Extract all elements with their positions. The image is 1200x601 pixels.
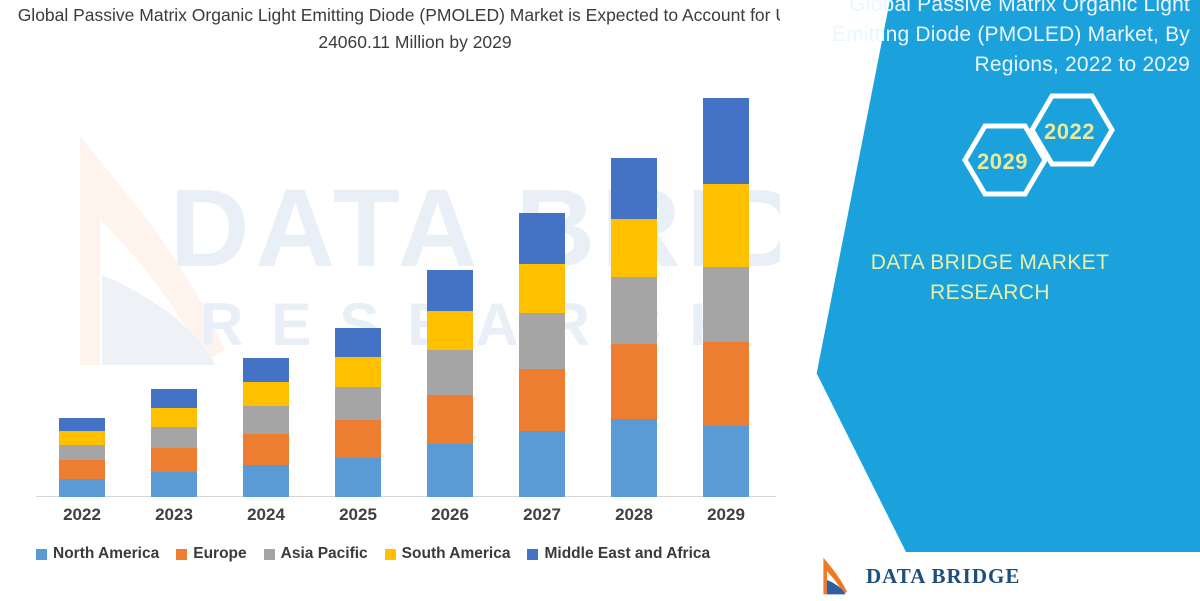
panel-title: Global Passive Matrix Organic Light Emit… xyxy=(800,0,1190,80)
bar-segment[interactable] xyxy=(427,350,473,395)
legend-label: Asia Pacific xyxy=(281,545,368,563)
legend-label: North America xyxy=(53,545,159,563)
bar-segment[interactable] xyxy=(59,460,105,478)
stacked-bar-2024[interactable] xyxy=(243,358,289,497)
bar-slot xyxy=(404,270,496,497)
bar-segment[interactable] xyxy=(519,431,565,497)
right-info-panel: Global Passive Matrix Organic Light Emit… xyxy=(780,0,1200,600)
hexagon-group: 2022 2029 xyxy=(780,88,1200,218)
bar-slot xyxy=(128,389,220,497)
bar-segment[interactable] xyxy=(335,458,381,497)
bar-segment[interactable] xyxy=(519,213,565,264)
chart-legend: North AmericaEuropeAsia PacificSouth Ame… xyxy=(36,542,796,566)
stacked-bar-2023[interactable] xyxy=(151,389,197,497)
bar-slot xyxy=(680,98,772,497)
bar-segment[interactable] xyxy=(519,264,565,313)
stacked-bar-2028[interactable] xyxy=(611,158,657,497)
brand-block: DATA BRIDGE MARKET RESEARCH xyxy=(780,248,1200,308)
x-label-2026: 2026 xyxy=(404,505,496,525)
bar-segment[interactable] xyxy=(151,408,197,426)
bar-segment[interactable] xyxy=(427,395,473,444)
chart-panel: Global Passive Matrix Organic Light Emit… xyxy=(0,0,840,600)
x-label-2024: 2024 xyxy=(220,505,312,525)
bar-segment[interactable] xyxy=(243,465,289,497)
x-label-2023: 2023 xyxy=(128,505,220,525)
legend-item[interactable]: Middle East and Africa xyxy=(527,545,710,563)
bar-segment[interactable] xyxy=(427,444,473,497)
bar-segment[interactable] xyxy=(703,98,749,184)
hexagon-2029-label: 2029 xyxy=(977,149,1028,175)
legend-label: Middle East and Africa xyxy=(544,545,710,563)
bar-segment[interactable] xyxy=(611,219,657,278)
bar-segment[interactable] xyxy=(427,270,473,310)
legend-item[interactable]: Asia Pacific xyxy=(264,545,368,563)
bar-segment[interactable] xyxy=(611,158,657,219)
hexagon-2022-label: 2022 xyxy=(1044,119,1095,145)
bar-segment[interactable] xyxy=(519,313,565,369)
stacked-bar-2026[interactable] xyxy=(427,270,473,497)
bar-segment[interactable] xyxy=(703,426,749,497)
bar-segment[interactable] xyxy=(519,369,565,431)
legend-swatch xyxy=(264,549,275,560)
x-label-2027: 2027 xyxy=(496,505,588,525)
bar-segment[interactable] xyxy=(335,387,381,420)
stacked-bar-2022[interactable] xyxy=(59,418,105,497)
legend-item[interactable]: Europe xyxy=(176,545,246,563)
bar-slot xyxy=(220,358,312,497)
bar-segment[interactable] xyxy=(427,311,473,350)
bar-segment[interactable] xyxy=(703,267,749,342)
legend-swatch xyxy=(385,549,396,560)
bar-segment[interactable] xyxy=(335,328,381,357)
bar-segment[interactable] xyxy=(151,389,197,409)
bar-segment[interactable] xyxy=(703,342,749,426)
bar-segment[interactable] xyxy=(59,445,105,460)
bar-segment[interactable] xyxy=(243,434,289,465)
legend-item[interactable]: North America xyxy=(36,545,159,563)
x-label-2029: 2029 xyxy=(680,505,772,525)
bar-segment[interactable] xyxy=(151,448,197,472)
bar-segment[interactable] xyxy=(59,418,105,432)
databridge-logo-icon xyxy=(810,556,856,596)
bar-slot xyxy=(36,418,128,497)
bar-segment[interactable] xyxy=(151,472,197,497)
bar-segment[interactable] xyxy=(243,358,289,382)
bar-segment[interactable] xyxy=(335,420,381,458)
bar-segment[interactable] xyxy=(243,406,289,434)
x-label-2025: 2025 xyxy=(312,505,404,525)
footer-logo-text: DATA BRIDGE xyxy=(866,564,1020,589)
stacked-bar-2029[interactable] xyxy=(703,98,749,497)
brand-line-1: DATA BRIDGE MARKET xyxy=(780,248,1200,278)
bar-segment[interactable] xyxy=(59,479,105,497)
bar-segment[interactable] xyxy=(151,427,197,448)
legend-swatch xyxy=(176,549,187,560)
bar-segment[interactable] xyxy=(335,357,381,387)
bar-slot xyxy=(312,328,404,497)
bar-segment[interactable] xyxy=(611,277,657,344)
bar-slot xyxy=(496,213,588,497)
bar-segment[interactable] xyxy=(611,344,657,419)
stacked-bar-2027[interactable] xyxy=(519,213,565,497)
x-axis-labels: 20222023202420252026202720282029 xyxy=(36,505,776,531)
legend-label: South America xyxy=(402,545,511,563)
legend-label: Europe xyxy=(193,545,246,563)
bar-segment[interactable] xyxy=(243,382,289,406)
x-label-2028: 2028 xyxy=(588,505,680,525)
footer-logo: DATA BRIDGE xyxy=(780,552,1200,600)
stacked-bar-2025[interactable] xyxy=(335,328,381,497)
bar-slot xyxy=(588,158,680,497)
bar-segment[interactable] xyxy=(59,431,105,445)
legend-item[interactable]: South America xyxy=(385,545,511,563)
legend-swatch xyxy=(36,549,47,560)
x-label-2022: 2022 xyxy=(36,505,128,525)
chart-title: Global Passive Matrix Organic Light Emit… xyxy=(10,2,820,56)
legend-swatch xyxy=(527,549,538,560)
bar-segment[interactable] xyxy=(703,184,749,267)
bar-segment[interactable] xyxy=(611,419,657,497)
plot-area xyxy=(36,60,776,497)
brand-line-2: RESEARCH xyxy=(780,278,1200,308)
